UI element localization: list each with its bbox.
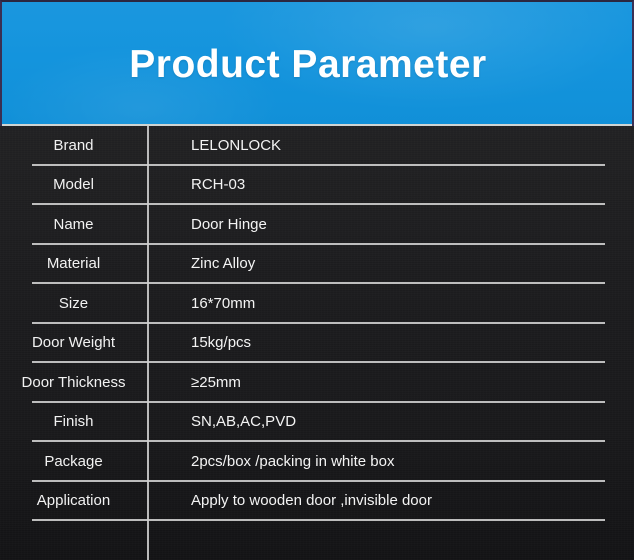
parameter-label: Model — [0, 177, 147, 194]
parameter-label: Finish — [0, 414, 147, 431]
parameter-label: Size — [0, 296, 147, 313]
parameter-label: Application — [0, 493, 147, 510]
table-row: NameDoor Hinge — [0, 205, 634, 245]
parameter-label: Door Thickness — [0, 375, 147, 392]
parameter-value: 15kg/pcs — [147, 335, 634, 352]
table-row: FinishSN,AB,AC,PVD — [0, 403, 634, 443]
page-title: Product Parameter — [129, 45, 504, 84]
table-row: Size16*70mm — [0, 284, 634, 324]
table-row: Door Weight15kg/pcs — [0, 324, 634, 364]
product-parameter-page: Product Parameter BrandLELONLOCKModelRCH… — [0, 0, 634, 560]
parameter-label: Name — [0, 217, 147, 234]
parameter-label: Brand — [0, 138, 147, 155]
parameter-label: Package — [0, 454, 147, 471]
parameter-value: Door Hinge — [147, 217, 634, 234]
parameter-table-body: BrandLELONLOCKModelRCH-03NameDoor HingeM… — [0, 126, 634, 521]
parameter-value: LELONLOCK — [147, 138, 634, 155]
table-row: BrandLELONLOCK — [0, 126, 634, 166]
table-row: ModelRCH-03 — [0, 166, 634, 206]
parameter-label: Material — [0, 256, 147, 273]
parameter-value: 2pcs/box /packing in white box — [147, 454, 634, 471]
parameter-value: RCH-03 — [147, 177, 634, 194]
table-row: MaterialZinc Alloy — [0, 245, 634, 285]
parameter-table: BrandLELONLOCKModelRCH-03NameDoor HingeM… — [0, 126, 634, 560]
table-row: Door Thickness≥25mm — [0, 363, 634, 403]
parameter-label: Door Weight — [0, 335, 147, 352]
table-row: Package2pcs/box /packing in white box — [0, 442, 634, 482]
page-header-banner: Product Parameter — [0, 0, 634, 126]
parameter-value: SN,AB,AC,PVD — [147, 414, 634, 431]
parameter-value: ≥25mm — [147, 375, 634, 392]
parameter-value: Apply to wooden door ,invisible door — [147, 493, 634, 510]
parameter-value: Zinc Alloy — [147, 256, 634, 273]
parameter-value: 16*70mm — [147, 296, 634, 313]
table-row: ApplicationApply to wooden door ,invisib… — [0, 482, 634, 522]
